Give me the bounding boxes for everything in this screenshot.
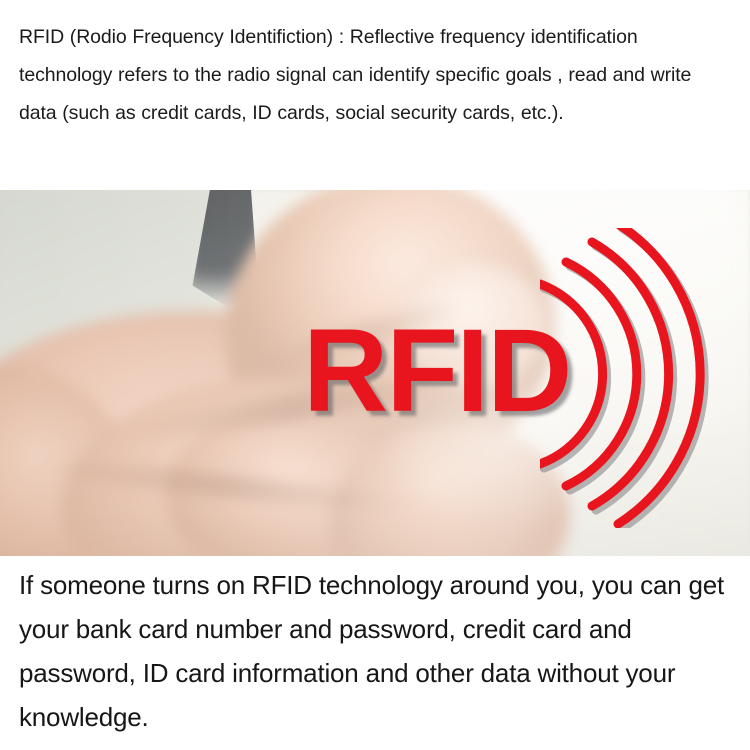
rfid-signal-waves-icon bbox=[540, 228, 750, 528]
rfid-definition-paragraph: RFID (Rodio Frequency Identifiction) : R… bbox=[19, 18, 733, 132]
top-text-block: RFID (Rodio Frequency Identifiction) : R… bbox=[0, 0, 750, 190]
rfid-logo: RFID bbox=[0, 190, 750, 556]
rfid-warning-paragraph: If someone turns on RFID technology arou… bbox=[19, 563, 736, 739]
bottom-text-block: If someone turns on RFID technology arou… bbox=[0, 556, 750, 750]
rfid-hand-photo: RFID bbox=[0, 190, 750, 556]
rfid-wordmark: RFID bbox=[303, 312, 570, 430]
product-description-page: RFID (Rodio Frequency Identifiction) : R… bbox=[0, 0, 750, 750]
